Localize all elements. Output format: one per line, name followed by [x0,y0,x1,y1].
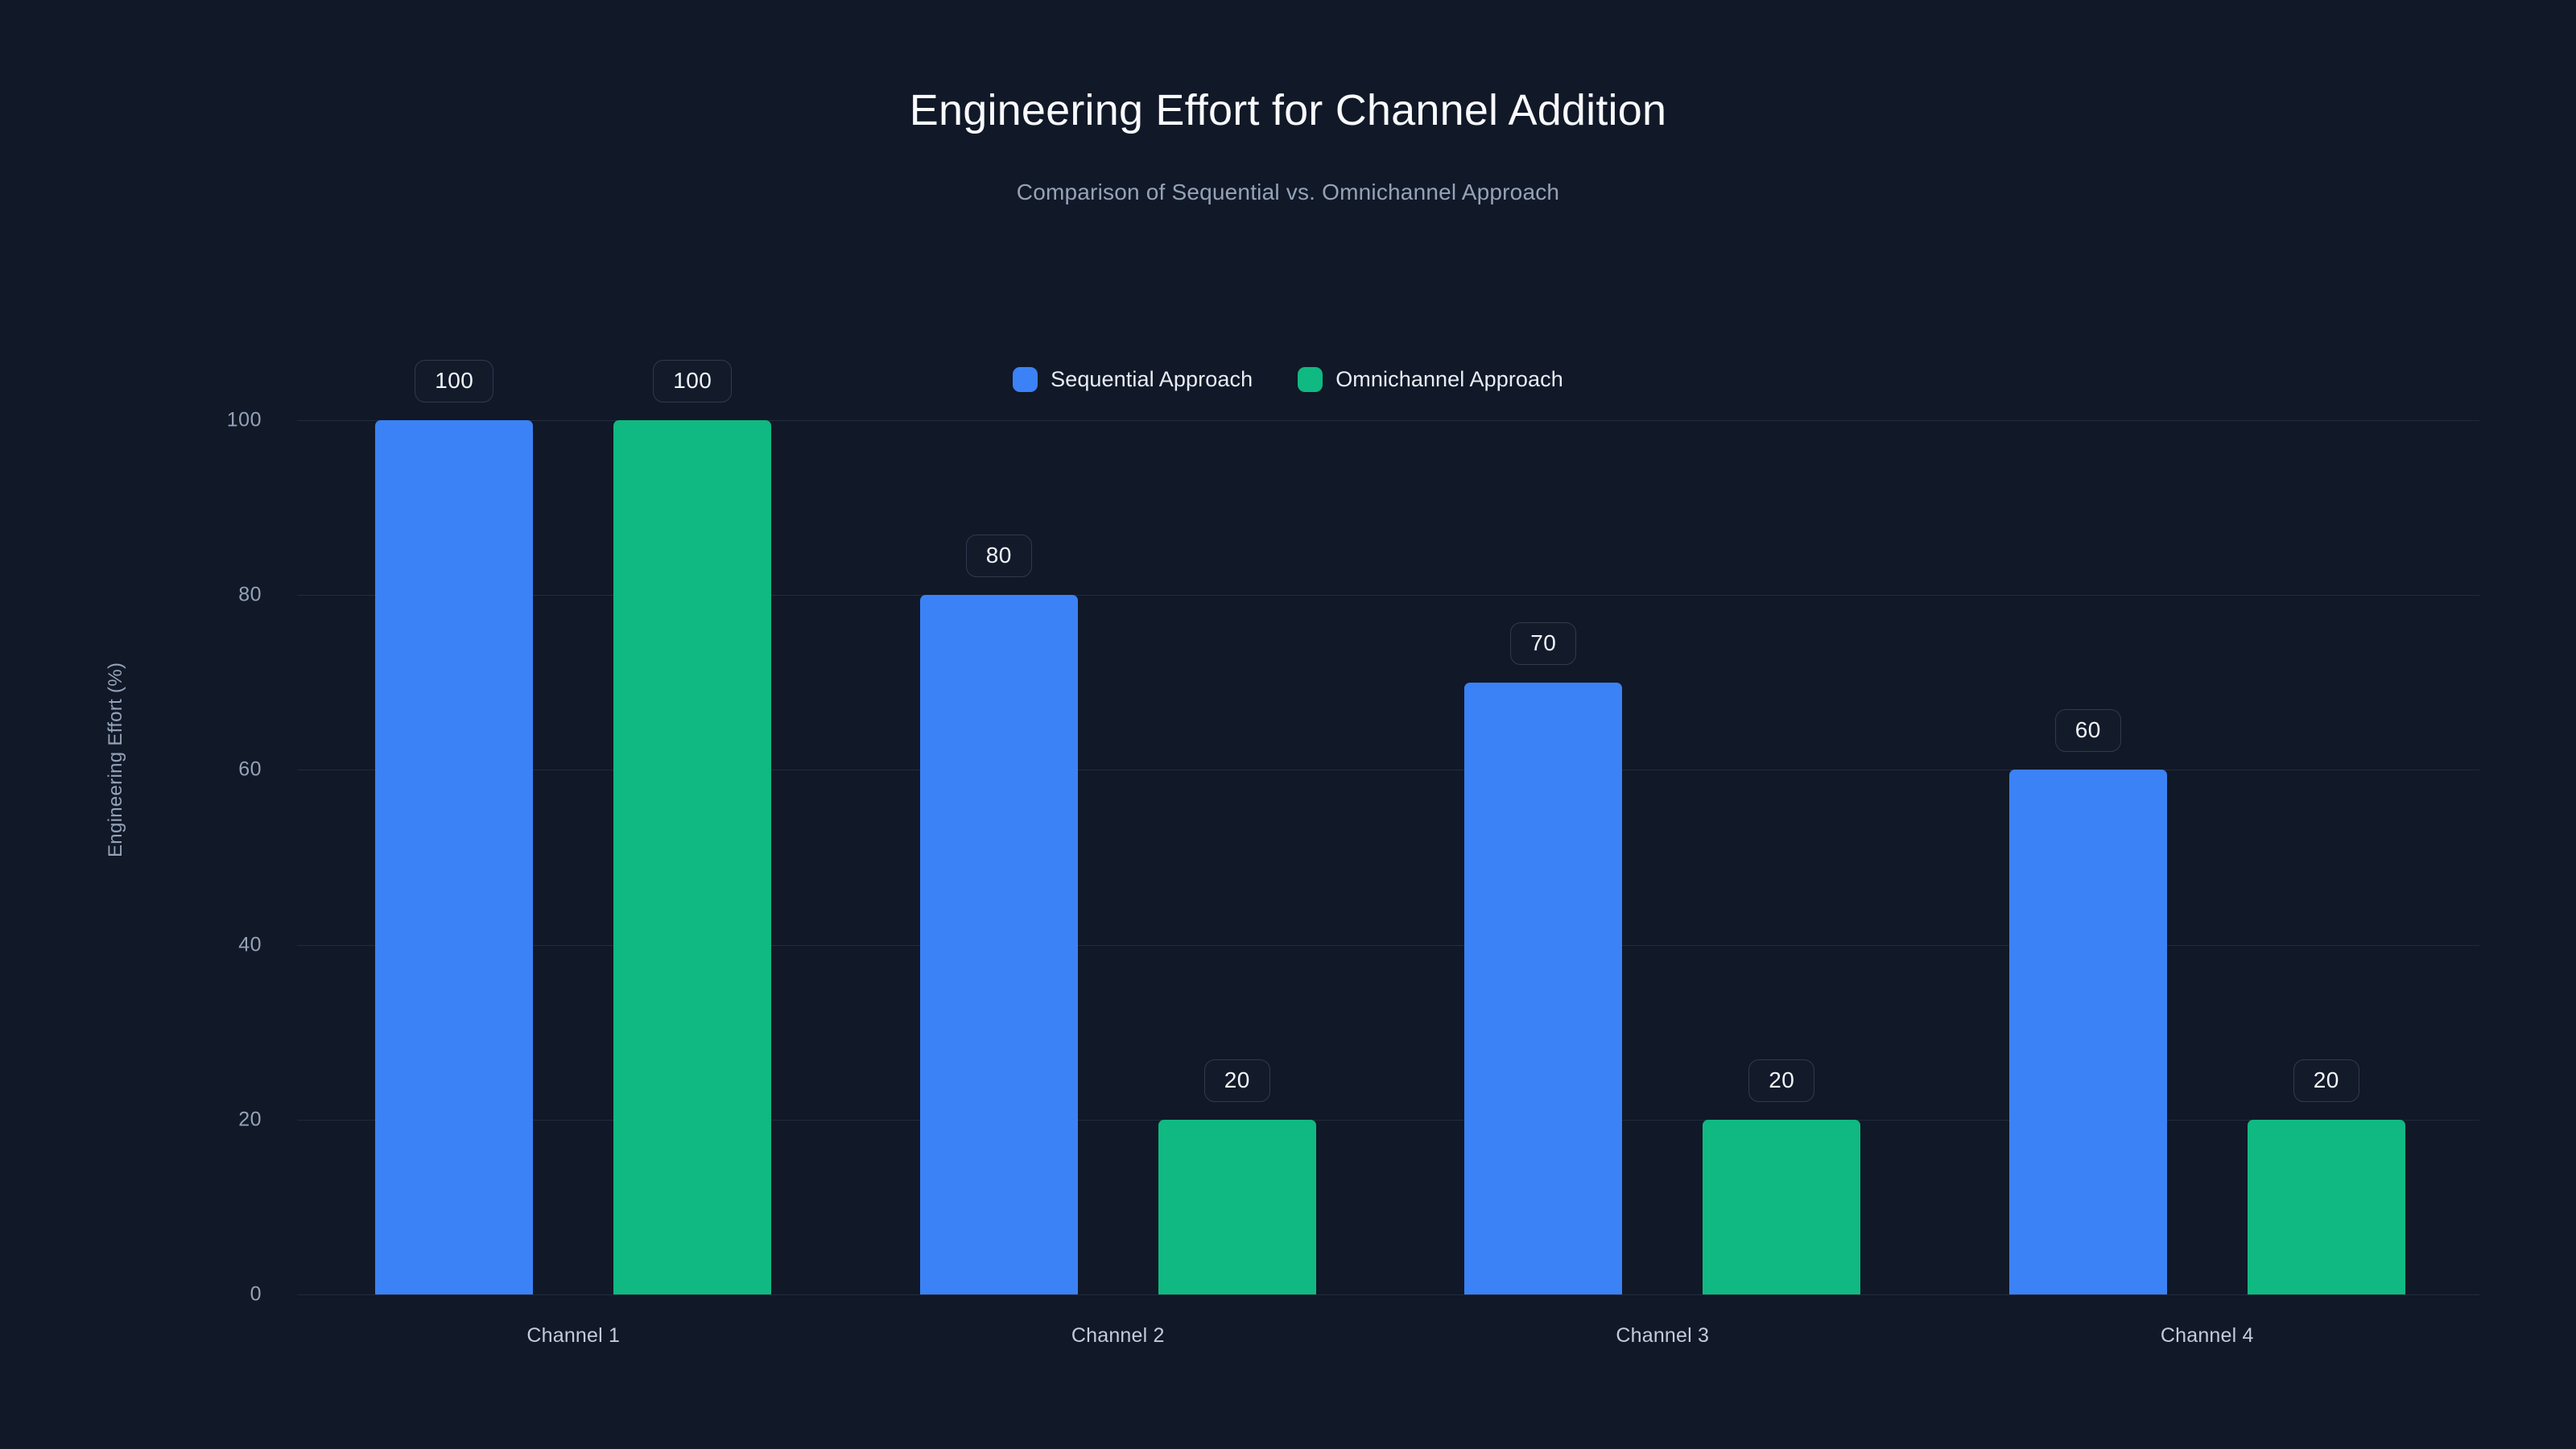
bar[interactable] [375,420,533,1294]
bar[interactable] [1464,683,1622,1294]
legend-label-sequential: Sequential Approach [1051,367,1253,392]
value-badge: 20 [2293,1059,2359,1102]
x-tick-label-3: Channel 3 [1616,1324,1709,1348]
legend-swatch-sequential-icon [1013,367,1038,392]
plot-area [301,420,2479,1294]
legend-item-sequential[interactable]: Sequential Approach [1013,367,1253,392]
x-tick-label-4: Channel 4 [2161,1324,2254,1348]
gridline-0 [297,1294,2479,1295]
y-tick-label-20: 20 [149,1108,262,1131]
y-tick-label-40: 40 [149,933,262,956]
y-tick-label-100: 100 [149,409,262,432]
value-badge: 20 [1748,1059,1814,1102]
y-tick-label-80: 80 [149,584,262,607]
bar[interactable] [1158,1120,1316,1294]
bar[interactable] [613,420,771,1294]
value-badge: 70 [1510,622,1576,665]
y-tick-label-0: 0 [149,1283,262,1307]
bar[interactable] [1703,1120,1860,1294]
y-axis-title: Engineering Effort (%) [105,663,127,857]
bar[interactable] [2009,770,2167,1294]
legend-item-omnichannel[interactable]: Omnichannel Approach [1298,367,1563,392]
value-badge: 20 [1204,1059,1270,1102]
chart-legend: Sequential Approach Omnichannel Approach [0,367,2576,392]
bar[interactable] [2248,1120,2405,1294]
value-badge: 60 [2055,709,2121,752]
legend-swatch-omnichannel-icon [1298,367,1323,392]
y-tick-label-60: 60 [149,758,262,782]
x-tick-label-1: Channel 1 [526,1324,620,1348]
bar[interactable] [920,595,1078,1294]
plot-wrapper: Engineering Effort (%) 020406080100 Chan… [0,0,2576,1449]
x-tick-label-2: Channel 2 [1071,1324,1165,1348]
legend-label-omnichannel: Omnichannel Approach [1335,367,1563,392]
value-badge: 80 [966,535,1032,577]
